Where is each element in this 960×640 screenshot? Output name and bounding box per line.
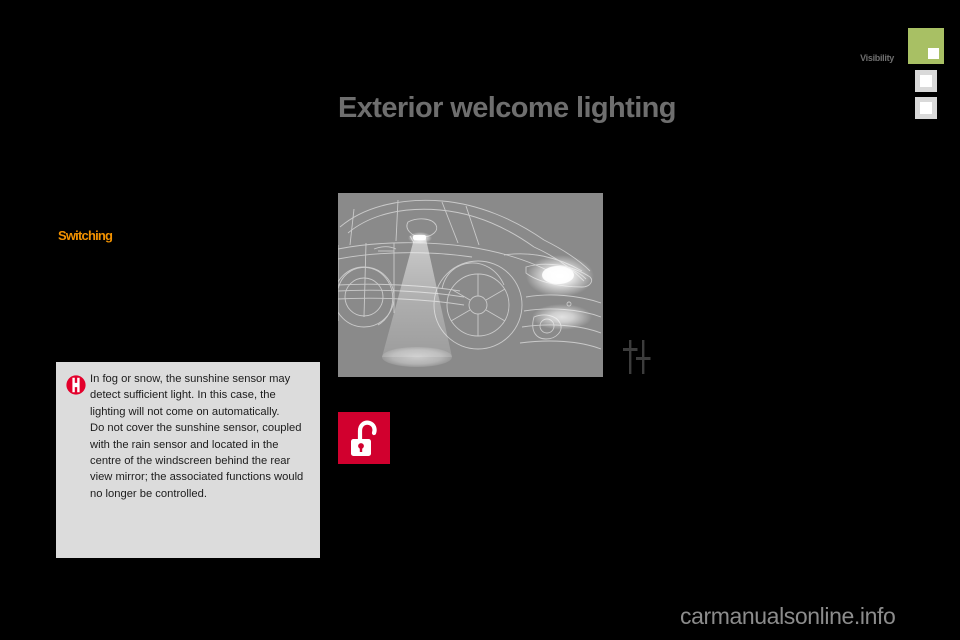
unlock-badge <box>338 412 390 464</box>
warning-note-text: In fog or snow, the sunshine sensor may … <box>90 371 308 502</box>
warning-icon <box>65 374 87 396</box>
sliders-icon <box>620 338 656 376</box>
section-tab-strip: Visibility <box>838 28 952 110</box>
tab-marker-icon <box>920 102 932 114</box>
tab-marker-icon <box>920 75 932 87</box>
sidebar-item-tab-3[interactable] <box>915 97 937 119</box>
tab-marker-icon <box>928 48 939 59</box>
section-label: Visibility <box>824 53 894 63</box>
warning-note-paragraph-1: In fog or snow, the sunshine sensor may … <box>90 371 308 420</box>
warning-note-box: In fog or snow, the sunshine sensor may … <box>56 362 320 558</box>
page-title: Exterior welcome lighting <box>338 92 676 125</box>
sidebar-item-tab-2[interactable] <box>915 70 937 92</box>
warning-note-paragraph-2: Do not cover the sunshine sensor, couple… <box>90 420 308 502</box>
sidebar-item-visibility[interactable] <box>908 28 944 64</box>
car-welcome-lighting-illustration <box>338 193 603 377</box>
site-watermark: carmanualsonline.info <box>680 603 895 630</box>
section-sub-heading: Switching <box>58 228 112 243</box>
